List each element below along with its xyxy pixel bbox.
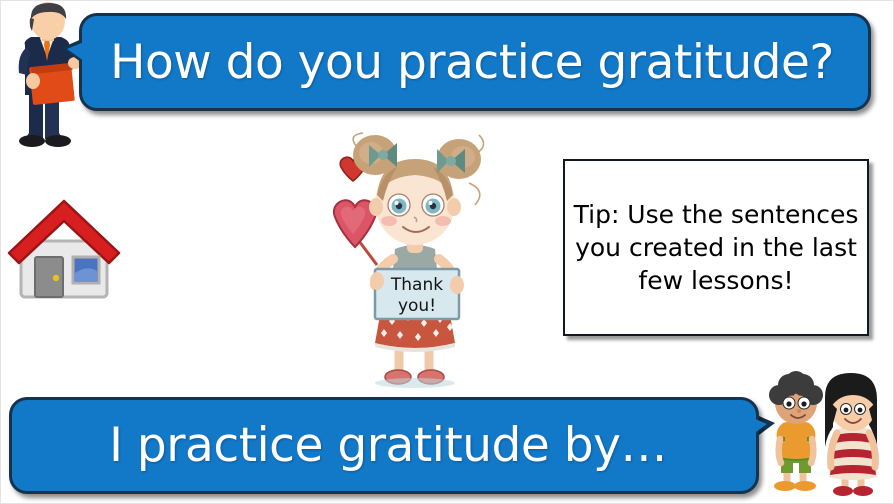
answer-bubble-text: I practice gratitude by… <box>12 418 756 473</box>
slide-canvas: Thank you! <box>0 0 894 504</box>
question-bubble-text: How do you practice gratitude? <box>82 35 868 90</box>
answer-bubble-tail-fill <box>741 413 767 443</box>
teacher-svg <box>3 1 91 153</box>
question-speech-bubble[interactable]: How do you practice gratitude? <box>79 13 871 111</box>
answer-speech-bubble[interactable]: I practice gratitude by… <box>9 397 759 494</box>
question-bubble-tail-fill <box>67 39 91 66</box>
girl-illustration: Thank you! <box>319 129 515 391</box>
thank-you-line1: Thank <box>390 275 443 295</box>
home-icon <box>5 183 123 313</box>
girl-thank-you-svg: Thank you! <box>319 129 515 391</box>
house-illustration <box>5 183 123 313</box>
tip-box-text: Tip: Use the sentences you created in th… <box>565 198 867 297</box>
tip-box: Tip: Use the sentences you created in th… <box>563 159 869 336</box>
teacher-illustration <box>3 1 91 153</box>
thank-you-line2: you! <box>398 296 436 316</box>
